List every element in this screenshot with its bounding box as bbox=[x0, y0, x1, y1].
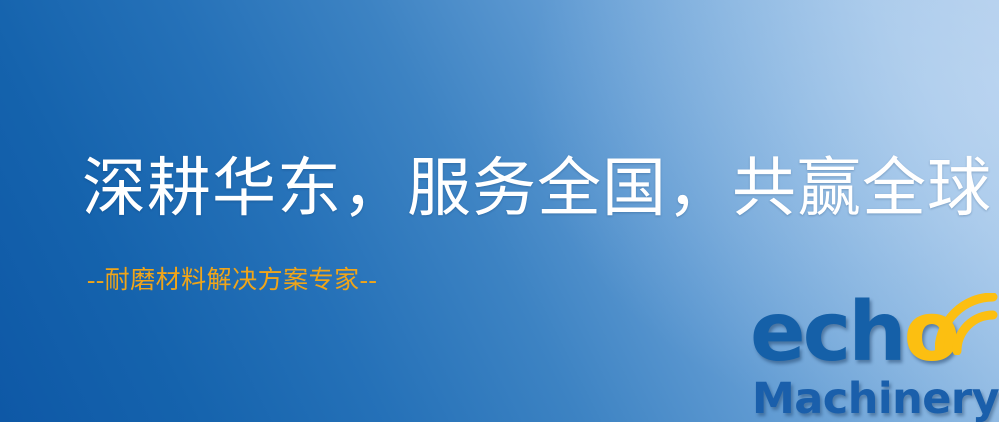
banner-headline: 深耕华东，服务全国，共赢全球 bbox=[82, 152, 992, 226]
hero-banner: 深耕华东，服务全国，共赢全球 --耐磨材料解决方案专家-- echo Machi… bbox=[0, 0, 999, 422]
signal-arc-icon bbox=[935, 293, 999, 355]
company-logo[interactable]: echo Machinery® bbox=[744, 292, 996, 422]
logo-tagline-text: Machinery bbox=[752, 374, 999, 422]
logo-wordmark-ech: ech bbox=[750, 285, 904, 380]
banner-subtitle: --耐磨材料解决方案专家-- bbox=[87, 266, 377, 296]
logo-wordmark: echo bbox=[750, 292, 957, 374]
logo-tagline: Machinery® bbox=[752, 371, 999, 422]
